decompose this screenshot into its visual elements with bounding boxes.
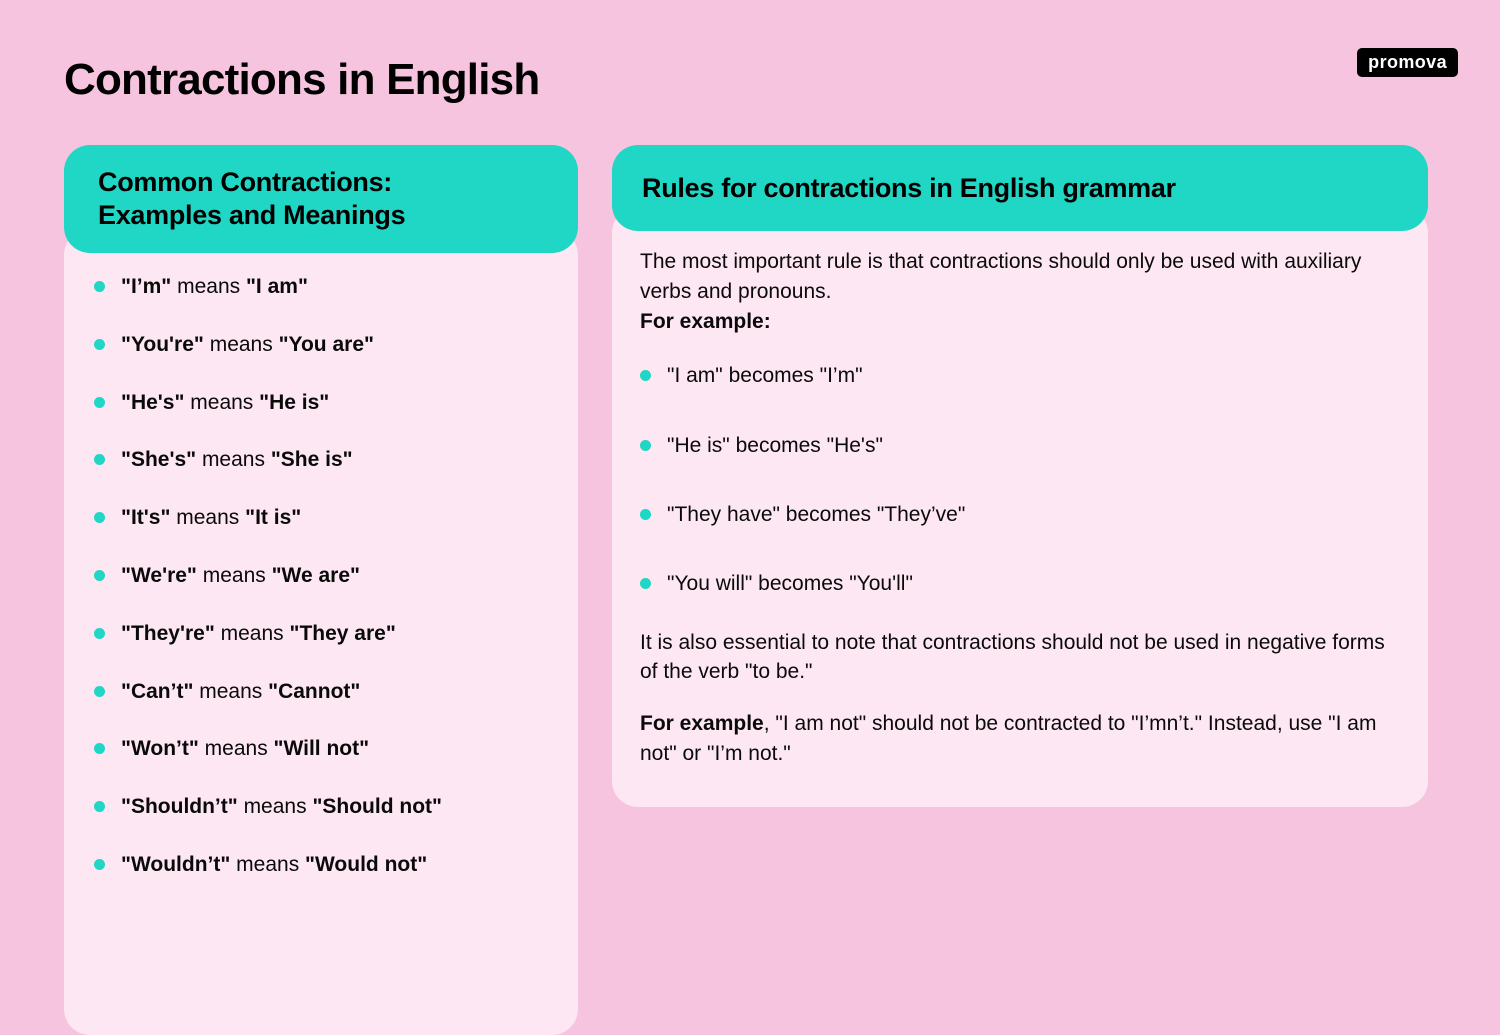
expansion-term: "It is": [245, 506, 301, 529]
bullet-dot-icon: [94, 801, 105, 812]
means-connector: means: [171, 275, 246, 298]
list-item-label: "It's" means "It is": [121, 504, 301, 531]
rules-card: Rules for contractions in English gramma…: [612, 145, 1428, 807]
list-item: "He's" means "He is": [94, 389, 548, 416]
bullet-dot-icon: [640, 578, 651, 589]
bullet-dot-icon: [94, 512, 105, 523]
list-item-label: "Won’t" means "Will not": [121, 735, 369, 762]
rules-intro-text: The most important rule is that contract…: [640, 250, 1361, 303]
list-item-label: "They have" becomes "They’ve": [667, 501, 965, 528]
list-item-label: "I’m" means "I am": [121, 273, 308, 300]
rules-examples-list: "I am" becomes "I’m""He is" becomes "He'…: [640, 362, 1400, 597]
list-item-label: "I am" becomes "I’m": [667, 362, 863, 389]
list-item: "You're" means "You are": [94, 331, 548, 358]
page-title: Contractions in English: [64, 55, 539, 105]
list-item: "Shouldn’t" means "Should not": [94, 793, 548, 820]
card-header-line-1: Common Contractions:: [98, 167, 392, 197]
list-item-label: "He is" becomes "He's": [667, 432, 883, 459]
list-item: "They have" becomes "They’ve": [640, 501, 1400, 528]
contraction-term: "You're": [121, 333, 204, 356]
means-connector: means: [238, 795, 313, 818]
expansion-term: "We are": [272, 564, 360, 587]
contraction-term: "She's": [121, 448, 196, 471]
bullet-dot-icon: [640, 440, 651, 451]
rules-outro-paragraph-1: It is also essential to note that contra…: [640, 628, 1400, 688]
expansion-term: "Should not": [312, 795, 442, 818]
expansion-term: "He is": [259, 391, 329, 414]
means-connector: means: [204, 333, 279, 356]
list-item: "I am" becomes "I’m": [640, 362, 1400, 389]
list-item: "Wouldn’t" means "Would not": [94, 851, 548, 878]
list-item: "We're" means "We are": [94, 562, 548, 589]
means-connector: means: [170, 506, 245, 529]
contraction-term: "Can’t": [121, 680, 193, 703]
means-connector: means: [184, 391, 259, 414]
expansion-term: "Cannot": [268, 680, 360, 703]
bullet-dot-icon: [94, 397, 105, 408]
list-item-label: "He's" means "He is": [121, 389, 329, 416]
contraction-term: "It's": [121, 506, 170, 529]
promova-logo: promova: [1357, 48, 1458, 77]
list-item: "Can’t" means "Cannot": [94, 678, 548, 705]
list-item-label: "They're" means "They are": [121, 620, 396, 647]
bullet-dot-icon: [94, 628, 105, 639]
list-item-label: "Wouldn’t" means "Would not": [121, 851, 427, 878]
expansion-term: "She is": [271, 448, 353, 471]
contraction-term: "I’m": [121, 275, 171, 298]
rules-intro-paragraph: The most important rule is that contract…: [640, 247, 1400, 336]
expansion-term: "You are": [279, 333, 374, 356]
list-item: "You will" becomes "You'll": [640, 570, 1400, 597]
means-connector: means: [199, 737, 274, 760]
bullet-dot-icon: [94, 686, 105, 697]
list-item: "It's" means "It is": [94, 504, 548, 531]
means-connector: means: [193, 680, 268, 703]
bullet-dot-icon: [94, 454, 105, 465]
contraction-term: "He's": [121, 391, 184, 414]
list-item-label: "You're" means "You are": [121, 331, 374, 358]
contraction-term: "Shouldn’t": [121, 795, 238, 818]
expansion-term: "Will not": [274, 737, 370, 760]
contraction-term: "They're": [121, 622, 215, 645]
means-connector: means: [197, 564, 272, 587]
rules-outro-emphasis: For example: [640, 712, 764, 735]
rules-card-header: Rules for contractions in English gramma…: [612, 145, 1428, 231]
rules-card-body: The most important rule is that contract…: [612, 207, 1428, 807]
list-item: "They're" means "They are": [94, 620, 548, 647]
list-item: "Won’t" means "Will not": [94, 735, 548, 762]
means-connector: means: [215, 622, 290, 645]
expansion-term: "They are": [289, 622, 395, 645]
contraction-term: "Wouldn’t": [121, 853, 230, 876]
bullet-dot-icon: [94, 339, 105, 350]
list-item: "He is" becomes "He's": [640, 432, 1400, 459]
common-contractions-card-body: "I’m" means "I am""You're" means "You ar…: [64, 229, 578, 1035]
contraction-term: "Won’t": [121, 737, 199, 760]
list-item-label: "She's" means "She is": [121, 446, 353, 473]
bullet-dot-icon: [640, 509, 651, 520]
expansion-term: "I am": [246, 275, 308, 298]
means-connector: means: [196, 448, 271, 471]
bullet-dot-icon: [94, 859, 105, 870]
rules-intro-emphasis: For example:: [640, 310, 771, 333]
list-item-label: "Can’t" means "Cannot": [121, 678, 360, 705]
list-item-label: "We're" means "We are": [121, 562, 360, 589]
bullet-dot-icon: [94, 281, 105, 292]
expansion-term: "Would not": [305, 853, 427, 876]
common-contractions-card-header: Common Contractions: Examples and Meanin…: [64, 145, 578, 253]
rules-outro-paragraph-2: For example, "I am not" should not be co…: [640, 709, 1400, 769]
bullet-dot-icon: [94, 570, 105, 581]
common-contractions-card: Common Contractions: Examples and Meanin…: [64, 145, 578, 1035]
contraction-term: "We're": [121, 564, 197, 587]
list-item-label: "You will" becomes "You'll": [667, 570, 913, 597]
list-item-label: "Shouldn’t" means "Should not": [121, 793, 442, 820]
list-item: "She's" means "She is": [94, 446, 548, 473]
bullet-dot-icon: [640, 370, 651, 381]
common-contractions-list: "I’m" means "I am""You're" means "You ar…: [94, 273, 548, 878]
bullet-dot-icon: [94, 743, 105, 754]
rules-card-header-label: Rules for contractions in English gramma…: [642, 172, 1176, 204]
list-item: "I’m" means "I am": [94, 273, 548, 300]
card-header-line-2: Examples and Meanings: [98, 200, 405, 230]
means-connector: means: [230, 853, 305, 876]
